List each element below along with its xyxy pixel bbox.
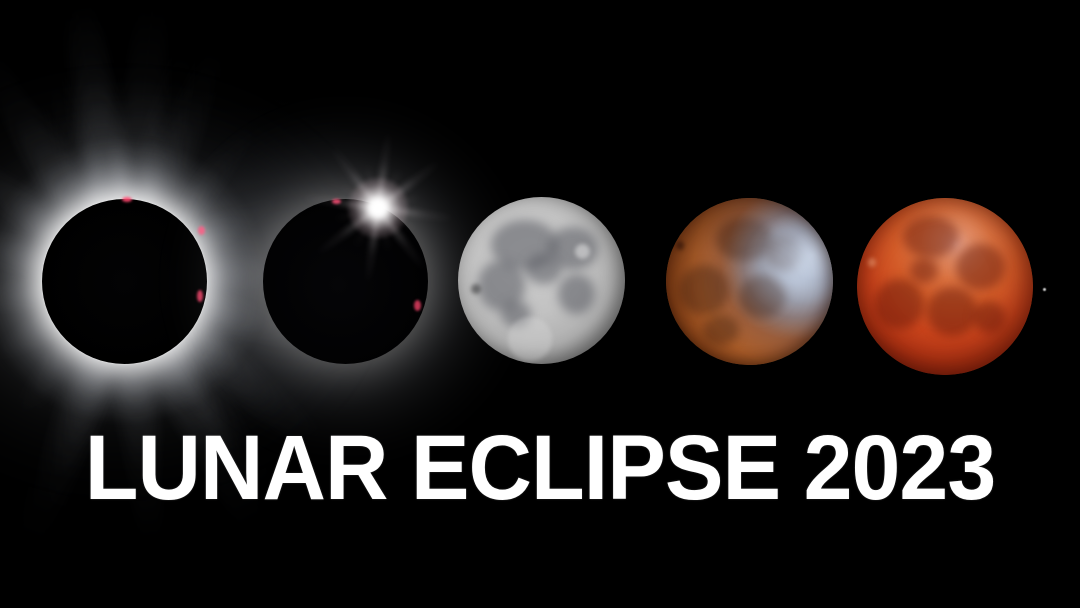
umbral-shading (857, 198, 1033, 375)
solar-prominence (332, 199, 341, 204)
crater (508, 317, 551, 360)
phase-partial-lunar-eclipse (666, 198, 833, 365)
crater (575, 244, 590, 259)
eclipse-thumbnail: LUNAR ECLIPSE 2023 (0, 0, 1080, 608)
umbral-shading (666, 198, 833, 365)
star-speck (1043, 288, 1046, 291)
mare-patch (525, 254, 562, 284)
page-title: LUNAR ECLIPSE 2023 (24, 422, 1055, 514)
diamond-ring-core (348, 178, 408, 238)
phase-full-moon (458, 197, 625, 364)
crater (676, 241, 684, 249)
solar-prominence (414, 300, 421, 311)
mare-patch (558, 274, 595, 314)
phase-blood-moon (857, 198, 1033, 375)
